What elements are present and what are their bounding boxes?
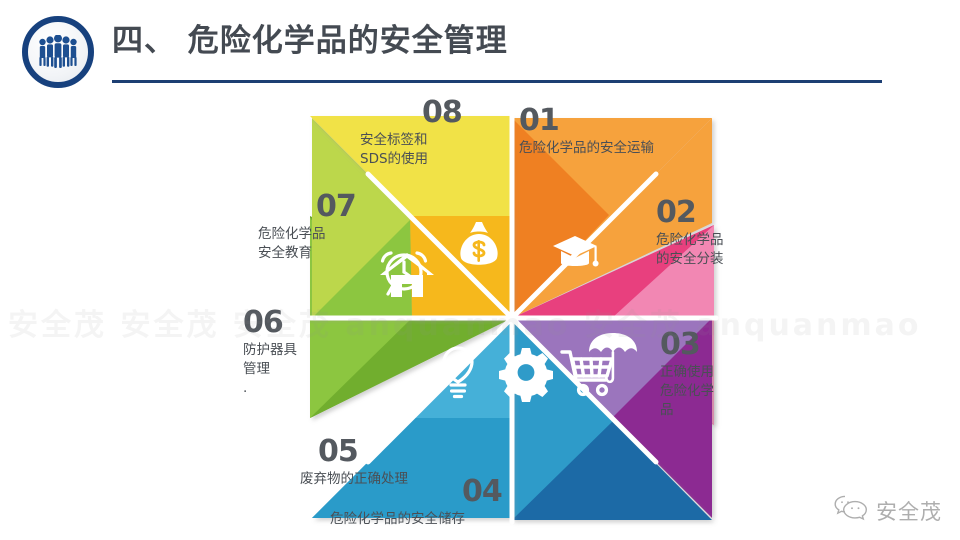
blade-label-03[interactable]: 03 正确使用 危险化学 品 [660, 330, 714, 420]
blade-number-05: 05 [318, 437, 408, 467]
blade-caption-03: 正确使用 危险化学 品 [660, 363, 714, 420]
slide-canvas: 四、 危险化学品的安全管理 [0, 0, 960, 540]
blade-caption-04: 危险化学品的安全储存 [330, 510, 502, 529]
page-title-wrap: 四、 危险化学品的安全管理 [112, 22, 902, 60]
gear-icon [499, 348, 553, 402]
blade-caption-05: 废弃物的正确处理 [300, 470, 408, 489]
blade-label-06[interactable]: 06 防护器具 管理 . [243, 308, 297, 398]
blade-number-01: 01 [519, 106, 654, 136]
pinwheel-hub [506, 312, 518, 324]
blade-label-07[interactable]: 07 危险化学品 安全教育 [258, 192, 356, 263]
blade-label-02[interactable]: 02 危险化学品 的安全分装 [656, 198, 724, 269]
blade-label-05[interactable]: 05 废弃物的正确处理 [300, 437, 408, 489]
blade-number-02: 02 [656, 198, 724, 228]
wechat-icon [834, 495, 868, 526]
blade-number-07: 07 [316, 192, 356, 222]
blade-caption-02: 危险化学品 的安全分装 [656, 231, 724, 269]
blade-number-03: 03 [660, 330, 714, 360]
title-underline [112, 80, 882, 83]
blade-number-08: 08 [422, 98, 462, 128]
blade-caption-07: 危险化学品 安全教育 [258, 225, 356, 263]
blade-number-04: 04 [462, 477, 502, 507]
blade-caption-08: 安全标签和 SDS的使用 [360, 131, 462, 169]
blade-number-06: 06 [243, 308, 297, 338]
channel-watermark-text: 安全茂 [876, 496, 942, 526]
slide-header: 四、 危险化学品的安全管理 [0, 0, 960, 100]
page-title: 四、 危险化学品的安全管理 [112, 22, 902, 60]
blade-label-08[interactable]: 08 安全标签和 SDS的使用 [360, 98, 462, 169]
blade-label-01[interactable]: 01 危险化学品的安全运输 [519, 106, 654, 158]
people-group-icon [37, 35, 79, 69]
channel-watermark: 安全茂 [834, 495, 942, 526]
blade-caption-06: 防护器具 管理 . [243, 341, 297, 398]
blade-caption-01: 危险化学品的安全运输 [519, 139, 654, 158]
org-logo-badge [22, 16, 94, 88]
